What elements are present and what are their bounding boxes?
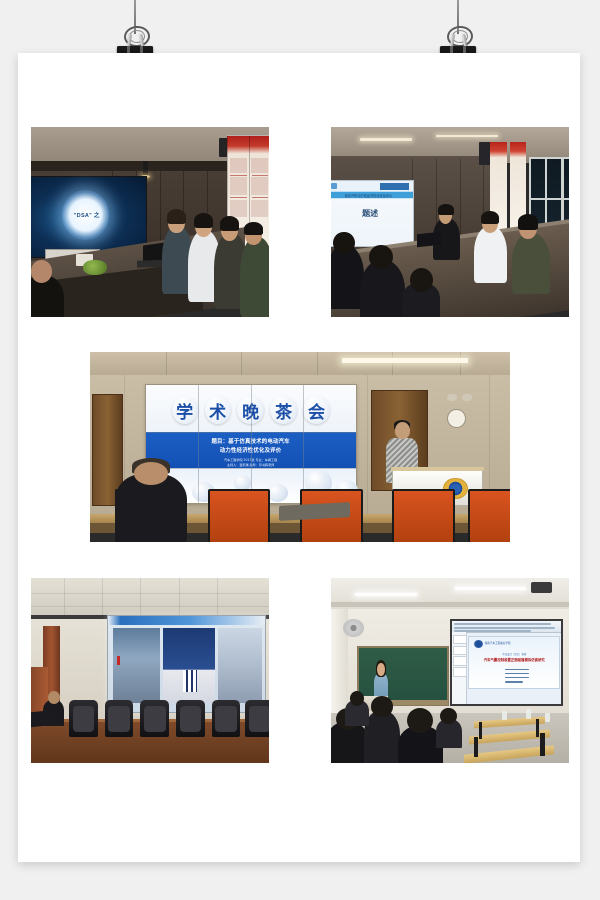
chair	[245, 700, 269, 737]
group-of-students	[183, 670, 197, 693]
speaker-hair	[438, 204, 453, 215]
photo-meeting-room-white-slide: 电动汽车动力性经济性优化及评价 题述	[331, 127, 569, 317]
slide-subtitle: 毕业设计（论文）答辩	[469, 652, 559, 656]
attendee-head	[333, 232, 354, 255]
slide-header-tab	[380, 183, 409, 189]
slide-title-char: 茶	[270, 396, 296, 424]
student	[364, 711, 400, 763]
attendee	[474, 226, 507, 283]
attendee	[240, 237, 269, 317]
chair	[208, 489, 271, 542]
wall-clock	[447, 409, 466, 428]
ceiling-beam	[331, 602, 569, 607]
chair	[69, 700, 98, 737]
student-head	[371, 696, 392, 716]
slide-header-text: 电动汽车动力性经济性优化及评价	[334, 193, 403, 197]
university-logo-icon	[474, 640, 483, 648]
photo-classroom-presentation: 湖南汽车工程职业学院 毕业设计（论文）答辩 汽车气囊控制装置正面碰撞模拟仿真研究	[331, 578, 569, 763]
screen-center-text: "DSA" 之	[31, 211, 146, 219]
projection-screen: 湖南汽车工程职业学院 毕业设计（论文）答辩 汽车气囊控制装置正面碰撞模拟仿真研究	[450, 619, 563, 706]
presenter-head	[395, 422, 410, 439]
projector	[531, 582, 552, 593]
slide-photo-left	[113, 628, 160, 703]
attendee-hair	[244, 222, 263, 235]
slide-photo-center	[163, 628, 215, 703]
binder-clip-right	[428, 0, 488, 60]
attendee-hair	[518, 214, 538, 229]
slide-logo-text: 湖南汽车工程职业学院	[485, 641, 525, 647]
binder-clip-left	[105, 0, 165, 60]
red-flag	[117, 656, 120, 665]
attendee-hair	[220, 216, 239, 231]
slide-title: 汽车气囊控制装置正面碰撞模拟仿真研究	[469, 657, 559, 662]
potted-plant	[83, 260, 107, 275]
slide-header-bar	[108, 616, 265, 625]
student-head	[440, 708, 457, 725]
photo-meeting-room-blue-screen: "DSA" 之	[31, 127, 269, 317]
slide-main-text: 题述	[331, 208, 413, 219]
chair	[392, 489, 455, 542]
slide-logo	[331, 183, 337, 189]
photo-video-wall-academic-tea-party: 学 术 晚 茶 会 题目：基于仿真技术的电动汽车 动力性经济性优化及评价 汽车工…	[90, 352, 510, 542]
attendee	[512, 233, 550, 294]
slide-title-char: 术	[205, 396, 231, 424]
student-head	[350, 691, 364, 706]
slide-photo-right	[218, 628, 262, 703]
collage-stage: "DSA" 之	[0, 0, 600, 900]
attendee-hair	[167, 209, 186, 224]
powerpoint-ribbon	[452, 621, 561, 634]
ceiling	[31, 578, 269, 619]
seated-person-head	[48, 691, 60, 704]
attendee-hair	[481, 211, 499, 224]
projection-screen	[107, 615, 266, 713]
chair	[212, 700, 241, 737]
chair	[105, 700, 134, 737]
slide-title-char: 学	[172, 396, 198, 424]
chair	[140, 700, 169, 737]
attendee-head	[369, 245, 393, 270]
ceiling-light	[342, 358, 468, 364]
podium-top	[391, 467, 484, 471]
laptop	[31, 710, 55, 727]
powerpoint-slide: 湖南汽车工程职业学院 毕业设计（论文）答辩 汽车气囊控制装置正面碰撞模拟仿真研究	[468, 636, 560, 690]
chair	[176, 700, 205, 737]
presenter-head	[377, 663, 385, 676]
attendee-head	[31, 260, 52, 283]
pendant-lamp	[143, 161, 148, 176]
chair	[468, 489, 510, 542]
slide-title-char: 会	[303, 396, 329, 424]
photo-lecture-hall-projected-photos	[31, 578, 269, 763]
seated-man-head	[134, 462, 168, 485]
attendee-hair	[194, 213, 213, 228]
